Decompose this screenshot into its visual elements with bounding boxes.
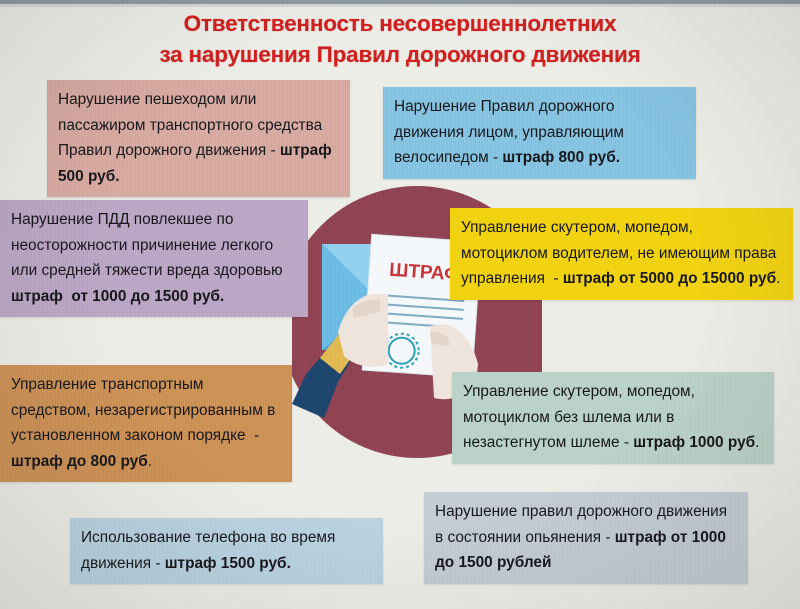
fine-box-unregistered-vehicle[interactable]: Управление транспортным средством, незар… [0, 365, 292, 482]
fine-box-injury-text: Нарушение ПДД повлекшее по неосторожност… [11, 211, 283, 305]
fine-box-intoxication[interactable]: Нарушение правил дорожного движения в со… [424, 492, 748, 584]
fine-box-phone-use[interactable]: Использование телефона во время движения… [70, 518, 383, 584]
poster-root: Ответственность несовершеннолетних за на… [0, 0, 800, 609]
fine-box-pedestrian[interactable]: Нарушение пешеходом или пассажиром транс… [47, 80, 350, 197]
fine-box-intoxication-text: Нарушение правил дорожного движения в со… [435, 503, 727, 571]
fine-box-injury[interactable]: Нарушение ПДД повлекшее по неосторожност… [0, 200, 308, 317]
page-title-line-2: за нарушения Правил дорожного движения [0, 39, 800, 70]
fine-box-no-helmet[interactable]: Управление скутером, мопедом, мотоциклом… [452, 372, 774, 464]
fine-box-pedestrian-text: Нарушение пешеходом или пассажиром транс… [58, 91, 332, 185]
fine-box-bicycle[interactable]: Нарушение Правил дорожного движения лицо… [383, 87, 696, 179]
fine-box-phone-use-text: Использование телефона во время движения… [81, 529, 335, 572]
fine-box-no-helmet-text: Управление скутером, мопедом, мотоциклом… [463, 383, 759, 451]
fine-box-no-license-text: Управление скутером, мопедом, мотоциклом… [461, 219, 780, 287]
fine-box-bicycle-text: Нарушение Правил дорожного движения лицо… [394, 98, 624, 166]
page-title-line-1: Ответственность несовершеннолетних [184, 11, 617, 36]
fine-box-no-license[interactable]: Управление скутером, мопедом, мотоциклом… [450, 208, 793, 300]
fine-box-unregistered-vehicle-text: Управление транспортным средством, незар… [11, 376, 275, 470]
page-title: Ответственность несовершеннолетних за на… [0, 8, 800, 70]
